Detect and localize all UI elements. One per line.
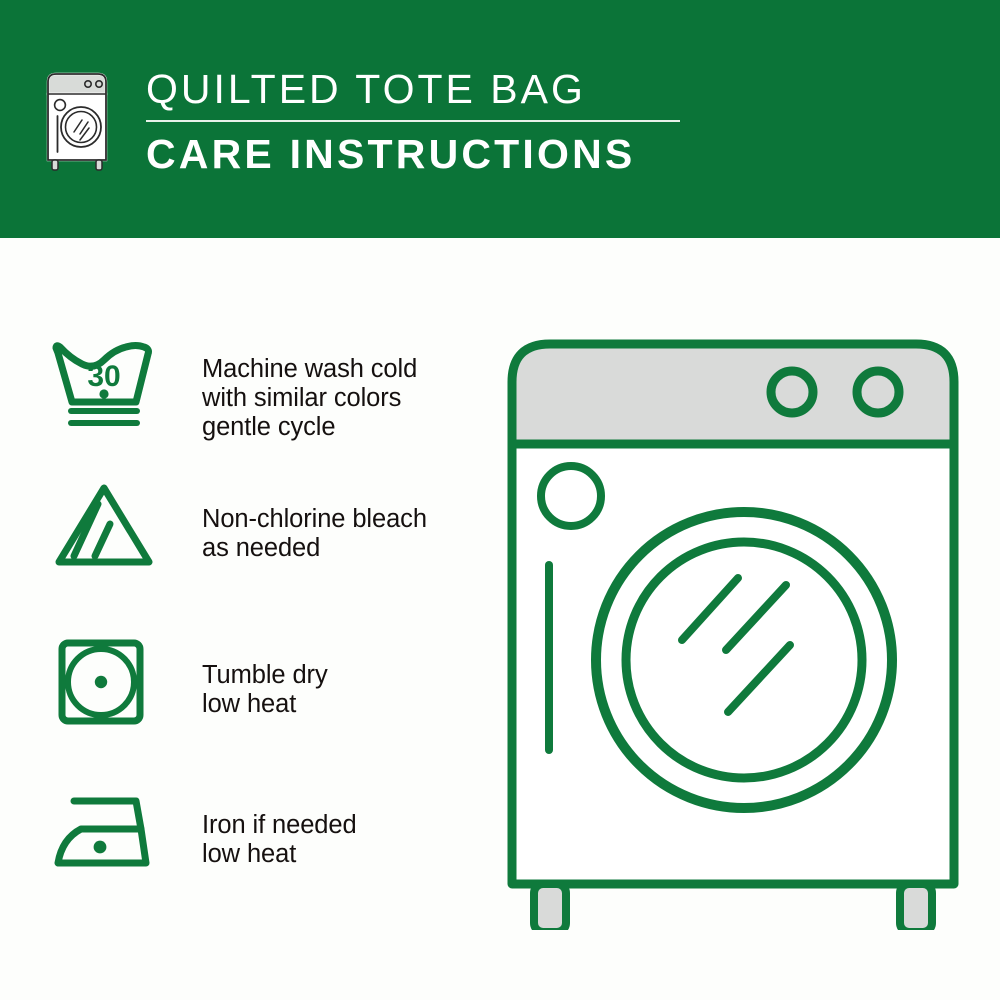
tumble-dry-icon bbox=[48, 633, 168, 729]
page-subtitle: CARE INSTRUCTIONS bbox=[146, 128, 846, 180]
care-row-machine-wash: 30 Machine wash cold with similar colors… bbox=[0, 338, 480, 442]
wash-temperature-value: 30 bbox=[87, 360, 120, 393]
machine-foot-right bbox=[900, 884, 932, 930]
care-text-bleach: Non-chlorine bleach as needed bbox=[202, 478, 427, 563]
care-row-tumble-dry: Tumble dry low heat bbox=[0, 633, 480, 729]
care-text-machine-wash: Machine wash cold with similar colors ge… bbox=[202, 338, 417, 442]
bleach-triangle-icon bbox=[48, 478, 168, 574]
page-title: QUILTED TOTE BAG bbox=[146, 64, 846, 114]
header-band: QUILTED TOTE BAG CARE INSTRUCTIONS bbox=[0, 0, 1000, 238]
care-row-iron: Iron if needed low heat bbox=[0, 783, 480, 879]
washing-machine-illustration bbox=[498, 330, 968, 930]
care-text-tumble-dry: Tumble dry low heat bbox=[202, 633, 328, 719]
header-text-block: QUILTED TOTE BAG CARE INSTRUCTIONS bbox=[146, 64, 846, 180]
care-instructions-page: QUILTED TOTE BAG CARE INSTRUCTIONS 30 bbox=[0, 0, 1000, 1000]
care-text-iron: Iron if needed low heat bbox=[202, 783, 357, 869]
title-divider bbox=[146, 120, 680, 122]
wash-tub-icon: 30 bbox=[48, 338, 168, 434]
machine-foot-left bbox=[534, 884, 566, 930]
iron-icon bbox=[48, 783, 168, 879]
washing-machine-icon bbox=[44, 70, 110, 174]
control-panel bbox=[512, 344, 954, 444]
care-row-bleach: Non-chlorine bleach as needed bbox=[0, 478, 480, 574]
care-instructions-list: 30 Machine wash cold with similar colors… bbox=[0, 238, 480, 1000]
